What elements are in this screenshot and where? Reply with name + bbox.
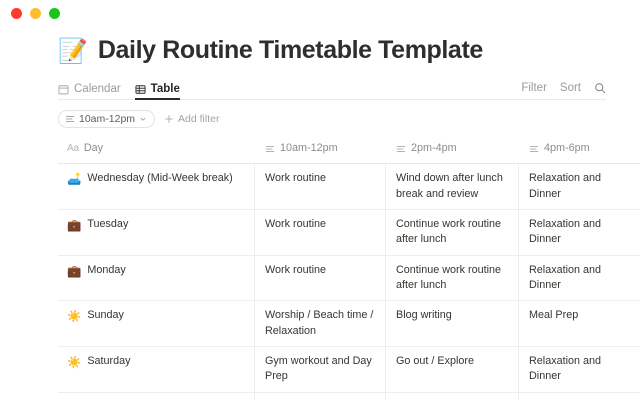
table-row[interactable]: 💼Friday (TGIF)Work routineContinue work … (58, 393, 640, 400)
memo-emoji: 📝 (58, 39, 88, 63)
cell-day[interactable]: 💼Friday (TGIF) (58, 393, 255, 400)
page-header: 📝 Daily Routine Timetable Template (0, 26, 640, 65)
tab-table-label: Table (151, 83, 180, 95)
search-icon[interactable] (594, 82, 606, 94)
cell-4pm-6pm[interactable]: Relaxation / Outing (519, 393, 640, 400)
cell-day-label: Saturday (87, 354, 130, 369)
maximize-window-button[interactable] (49, 8, 60, 19)
cell-day[interactable]: ☀️Sunday (58, 301, 255, 346)
text-lines-icon (65, 114, 75, 124)
cell-10am-12pm[interactable]: Work routine (255, 210, 386, 255)
cell-4pm-6pm[interactable]: Relaxation and Dinner (519, 256, 640, 301)
filter-action[interactable]: Filter (521, 82, 547, 94)
table-header-row: Aa Day 10am-12pm (58, 137, 640, 164)
window-title-bar (0, 0, 640, 26)
aa-icon: Aa (67, 142, 79, 156)
minimize-window-button[interactable] (30, 8, 41, 19)
cell-day[interactable]: 🛋️Wednesday (Mid-Week break) (58, 164, 255, 209)
cell-10am-12pm[interactable]: Gym workout and Day Prep (255, 347, 386, 392)
table-row[interactable]: 💼TuesdayWork routineContinue work routin… (58, 210, 640, 256)
close-window-button[interactable] (11, 8, 22, 19)
table-row[interactable]: 🛋️Wednesday (Mid-Week break)Work routine… (58, 164, 640, 210)
sun-emoji: ☀️ (67, 354, 81, 370)
cell-4pm-6pm[interactable]: Relaxation and Dinner (519, 164, 640, 209)
column-header-2pm-4pm-label: 2pm-4pm (411, 141, 457, 156)
cell-day[interactable]: 💼Tuesday (58, 210, 255, 255)
column-header-4pm-6pm-label: 4pm-6pm (544, 141, 590, 156)
sun-emoji: ☀️ (67, 308, 81, 324)
text-lines-icon (396, 144, 406, 154)
column-header-day[interactable]: Aa Day (58, 137, 255, 163)
cell-10am-12pm[interactable]: Worship / Beach time / Relaxation (255, 301, 386, 346)
cell-day-label: Tuesday (87, 217, 128, 232)
cell-2pm-4pm[interactable]: Blog writing (386, 301, 519, 346)
column-header-10am-12pm-label: 10am-12pm (280, 141, 338, 156)
cell-day-label: Monday (87, 263, 125, 278)
cell-4pm-6pm[interactable]: Meal Prep (519, 301, 640, 346)
column-header-4pm-6pm[interactable]: 4pm-6pm (519, 137, 640, 163)
cell-10am-12pm[interactable]: Work routine (255, 164, 386, 209)
cell-day-label: Sunday (87, 308, 124, 323)
table-row[interactable]: 💼MondayWork routineContinue work routine… (58, 256, 640, 302)
cell-2pm-4pm[interactable]: Wind down after lunch break and review (386, 164, 519, 209)
cell-10am-12pm[interactable]: Work routine (255, 393, 386, 400)
cell-2pm-4pm[interactable]: Continue work routine after lunch (386, 256, 519, 301)
cell-day[interactable]: ☀️Saturday (58, 347, 255, 392)
filter-pill-label: 10am-12pm (79, 113, 135, 125)
cell-2pm-4pm[interactable]: Go out / Explore (386, 347, 519, 392)
table-icon (135, 84, 146, 95)
briefcase-emoji: 💼 (67, 217, 81, 233)
table-row[interactable]: ☀️SaturdayGym workout and Day PrepGo out… (58, 347, 640, 393)
cell-4pm-6pm[interactable]: Relaxation and Dinner (519, 210, 640, 255)
cell-10am-12pm[interactable]: Work routine (255, 256, 386, 301)
tab-calendar-label: Calendar (74, 83, 121, 95)
column-header-day-label: Day (84, 141, 103, 156)
view-tab-list: Calendar Table (58, 76, 180, 99)
cell-day[interactable]: 💼Monday (58, 256, 255, 301)
plus-icon (164, 114, 174, 124)
filter-bar: 10am-12pm Add filter (58, 109, 640, 129)
cell-2pm-4pm[interactable]: Continue work routine after lunch (386, 393, 519, 400)
chevron-down-icon (139, 115, 147, 123)
sort-action[interactable]: Sort (560, 82, 581, 94)
cell-2pm-4pm[interactable]: Continue work routine after lunch (386, 210, 519, 255)
column-header-10am-12pm[interactable]: 10am-12pm (255, 137, 386, 163)
add-filter-label: Add filter (178, 113, 219, 125)
filter-pill-10am-12pm[interactable]: 10am-12pm (58, 110, 155, 128)
table-body: 🛋️Wednesday (Mid-Week break)Work routine… (58, 164, 640, 400)
view-action-group: Filter Sort (521, 82, 606, 99)
tab-table[interactable]: Table (135, 83, 180, 99)
briefcase-emoji: 💼 (67, 263, 81, 279)
cell-4pm-6pm[interactable]: Relaxation and Dinner (519, 347, 640, 392)
text-lines-icon (265, 144, 275, 154)
couch-emoji: 🛋️ (67, 171, 81, 187)
column-header-2pm-4pm[interactable]: 2pm-4pm (386, 137, 519, 163)
add-filter-button[interactable]: Add filter (164, 113, 219, 125)
tab-calendar[interactable]: Calendar (58, 83, 121, 99)
view-toolbar: Calendar Table Filter Sort (58, 76, 606, 100)
text-lines-icon (529, 144, 539, 154)
page-title: Daily Routine Timetable Template (98, 36, 483, 65)
page-body: 📝 Daily Routine Timetable Template Calen… (0, 26, 640, 400)
calendar-icon (58, 84, 69, 95)
cell-day-label: Wednesday (Mid-Week break) (87, 171, 232, 186)
table-row[interactable]: ☀️SundayWorship / Beach time / Relaxatio… (58, 301, 640, 347)
data-table: Aa Day 10am-12pm (58, 137, 640, 400)
table-header: Aa Day 10am-12pm (58, 137, 640, 164)
